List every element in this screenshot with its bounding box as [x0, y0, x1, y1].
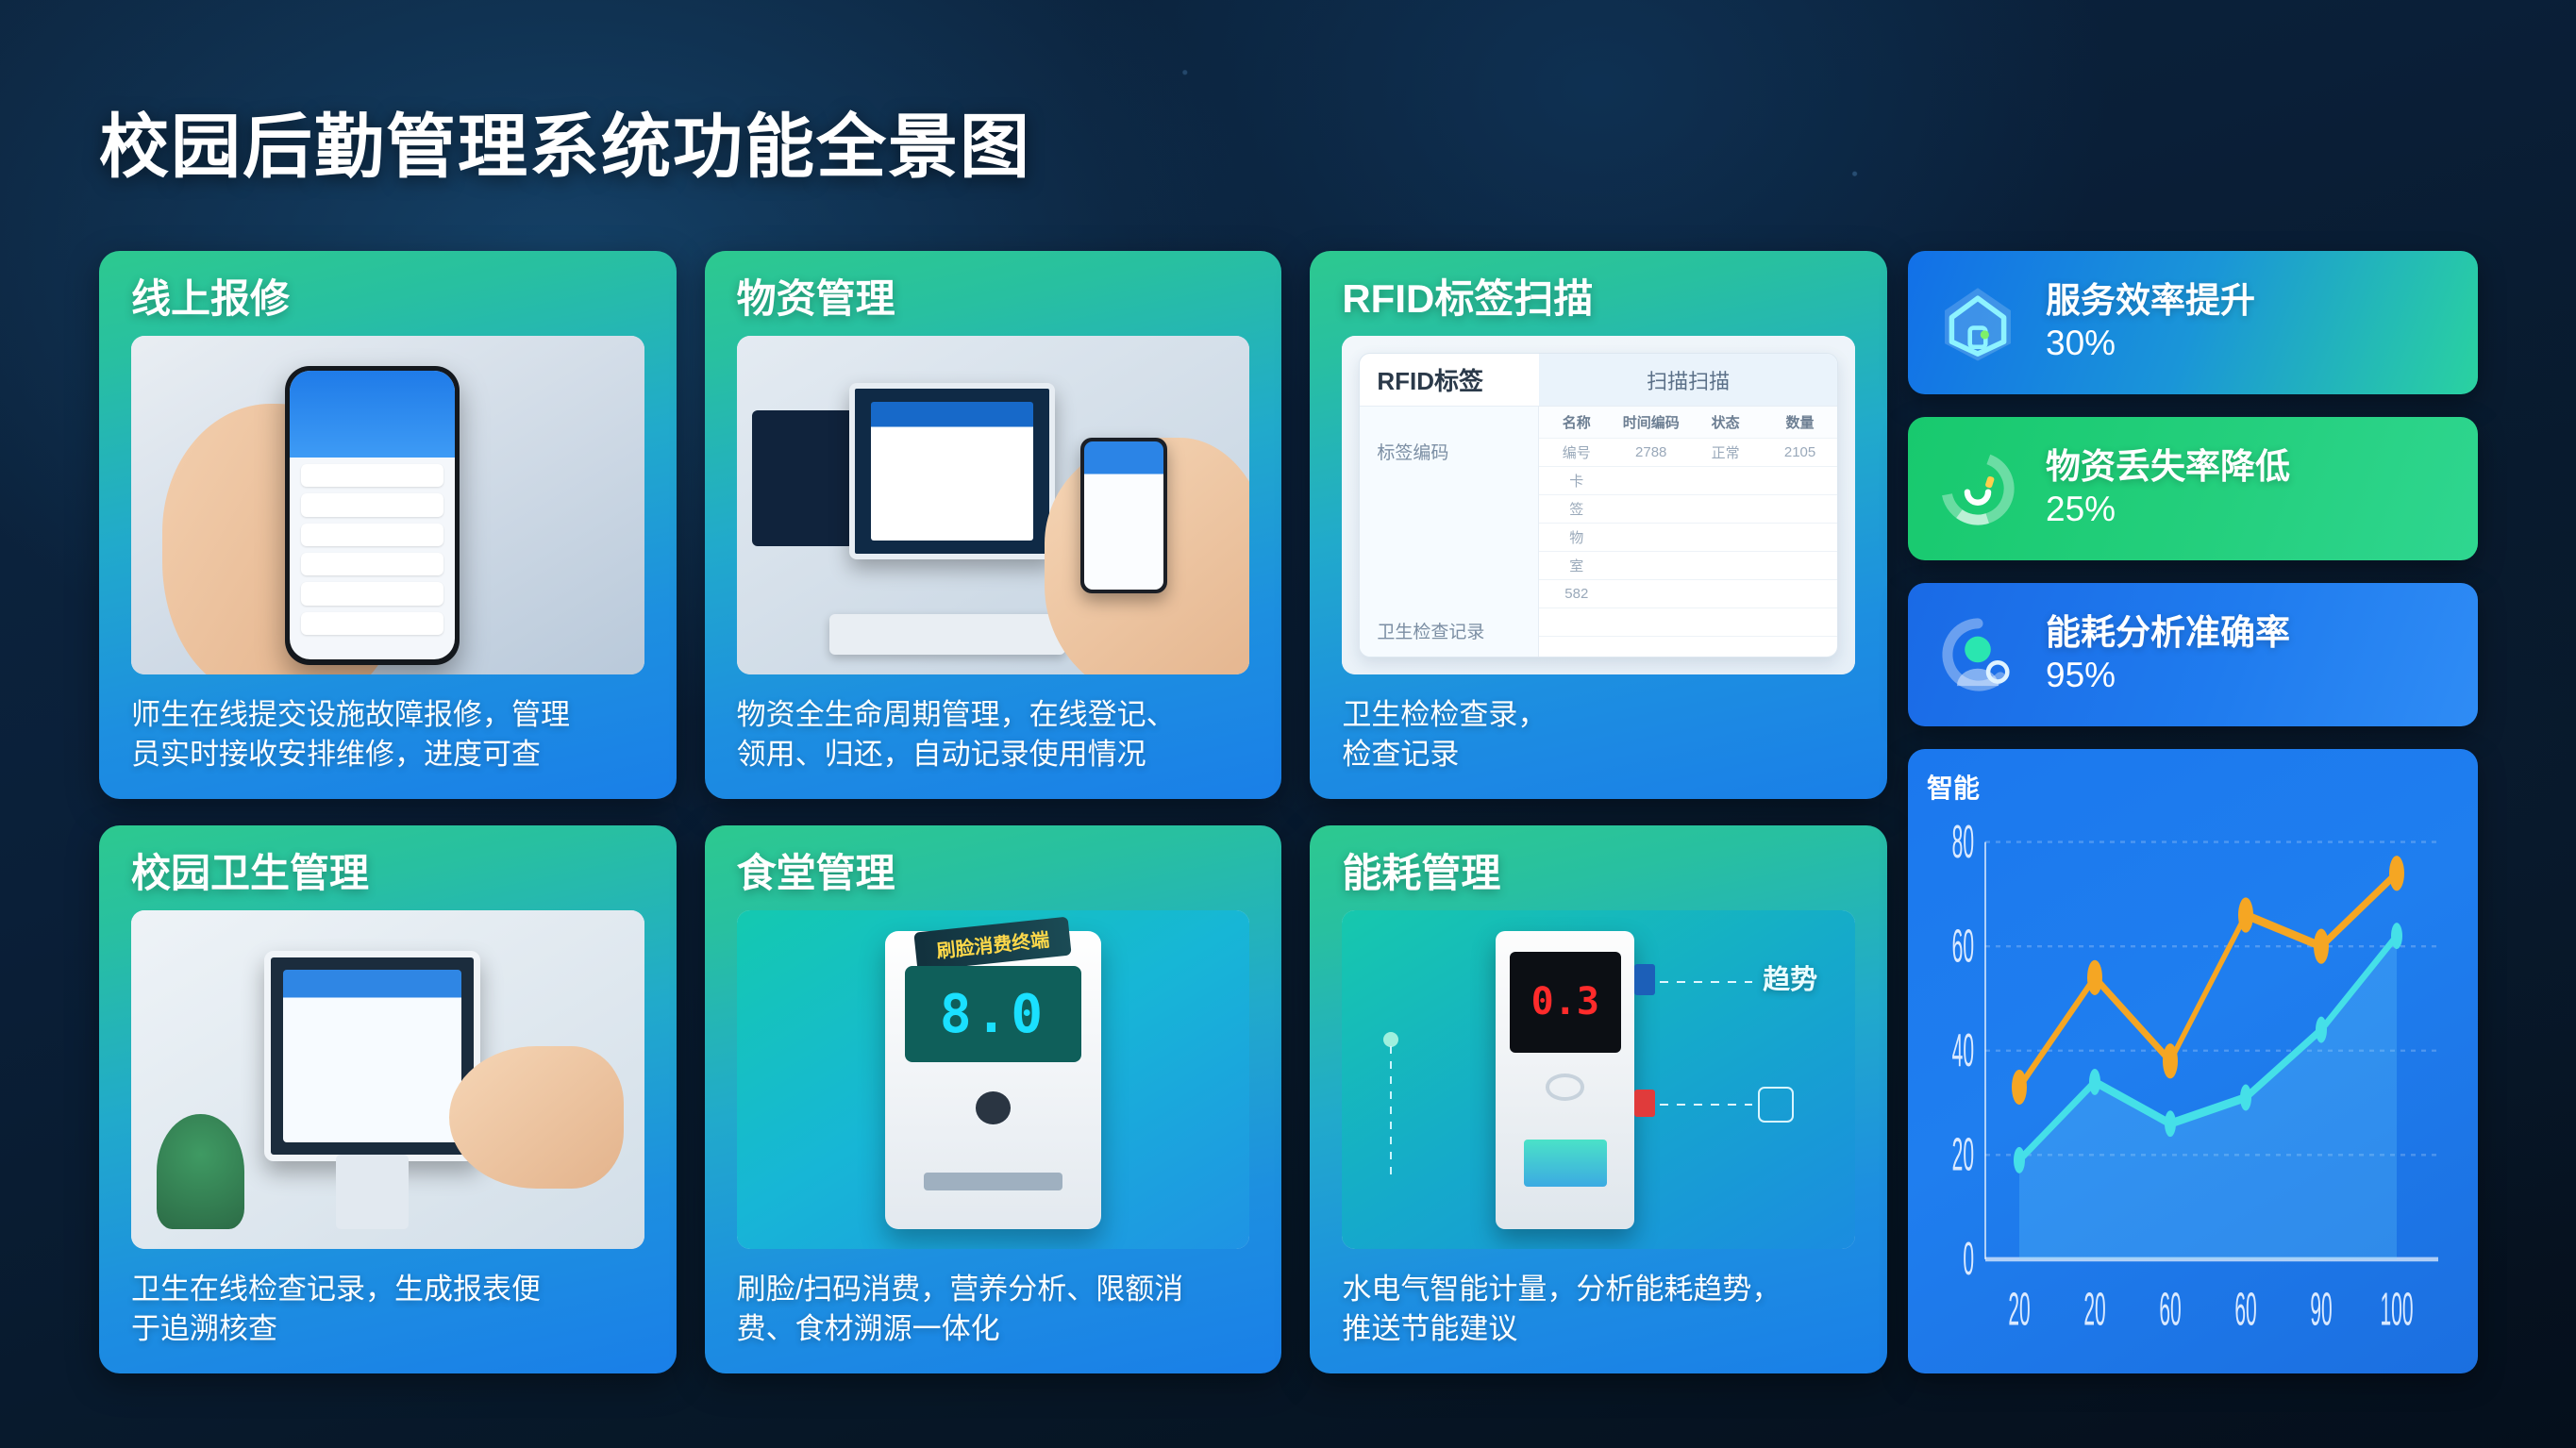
smart-meter-illustration: 0.3: [1496, 931, 1634, 1229]
stat-value: 30%: [2046, 323, 2255, 364]
chart-svg: 0204060802020606090100: [1927, 811, 2455, 1360]
callout-line-bottom: [1660, 1104, 1752, 1106]
rfid-footer-label: 卫生检查记录: [1377, 618, 1538, 643]
report-icon: [1758, 1087, 1794, 1123]
svg-text:100: 100: [2380, 1284, 2413, 1336]
feature-card-description: 物资全生命周期管理，在线登记、 领用、归还，自动记录使用情况: [737, 695, 1250, 774]
hand-illustration: [449, 1046, 624, 1189]
cell: 签: [1539, 499, 1614, 519]
feature-card-title: 物资管理: [737, 279, 1250, 319]
cell: 2788: [1614, 444, 1688, 460]
feature-card-title: RFID标签扫描: [1342, 279, 1855, 319]
table-header-row: 名称 时间编码 状态 数量: [1539, 407, 1837, 439]
connector-line: [1390, 1046, 1392, 1182]
feature-card-energy-management[interactable]: 能耗管理 0.3 趋势 水电气智能计量，分析能耗趋势， 推送节能建议: [1310, 825, 1887, 1373]
table-row: 物: [1539, 524, 1837, 552]
feature-card-media-phone-repair: [131, 336, 644, 674]
table-row: 签: [1539, 495, 1837, 524]
meter-display: 0.3: [1510, 952, 1620, 1054]
svg-text:40: 40: [1952, 1024, 1974, 1076]
cell: 卡: [1539, 471, 1614, 491]
page-title: 校园后勤管理系统功能全景图: [99, 91, 1031, 191]
feature-card-media-rfid-ui: RFID标签 扫描扫描 标签编码 卫生检查记录 名称 时间编码 状态: [1342, 336, 1855, 674]
meter-knob: [1546, 1074, 1584, 1100]
monitor-illustration: [849, 383, 1054, 559]
svg-text:60: 60: [1952, 920, 1974, 972]
svg-text:60: 60: [2159, 1284, 2181, 1336]
svg-text:0: 0: [1963, 1233, 1974, 1285]
tablet-illustration: [264, 951, 479, 1161]
trend-annotation: 趋势: [1763, 957, 1817, 997]
feature-card-canteen-management[interactable]: 食堂管理 刷脸消费终端 8.0 刷脸/扫码消费，营养分析、限额消 费、食材溯源一…: [705, 825, 1282, 1373]
feature-card-media-canteen-terminal: 刷脸消费终端 8.0: [737, 910, 1250, 1249]
feature-card-description: 卫生检检查录， 检查记录: [1342, 695, 1855, 774]
rfid-table: 名称 时间编码 状态 数量 编号 2788 正常 2105: [1539, 407, 1837, 657]
smartphone-illustration: [285, 366, 460, 664]
feature-card-rfid-scan[interactable]: RFID标签扫描 RFID标签 扫描扫描 标签编码 卫生检查记录: [1310, 251, 1887, 799]
rfid-mock-window: RFID标签 扫描扫描 标签编码 卫生检查记录 名称 时间编码 状态: [1359, 353, 1838, 657]
camera-lens-icon: [976, 1091, 1011, 1124]
feature-card-title: 校园卫生管理: [131, 854, 644, 893]
feature-card-grid: 线上报修 师生在线提交设施故障报修，管理 员实时接收安排维修，进度可查 物资管理: [99, 251, 1887, 1373]
svg-text:80: 80: [1952, 816, 1974, 868]
feature-card-asset-management[interactable]: 物资管理 物资全生命周期管理，在线登记、 领用、归还，自动记录使用情况: [705, 251, 1282, 799]
table-row: [1539, 608, 1837, 637]
trend-chart-card[interactable]: 智能 0204060802020606090100: [1908, 749, 2478, 1373]
stats-rail: 服务效率提升 30% 物资丢失率降低 25%: [1908, 251, 2478, 1373]
feature-card-media-desktop-asset: [737, 336, 1250, 674]
table-row: 编号 2788 正常 2105: [1539, 439, 1837, 467]
stat-card-asset-loss[interactable]: 物资丢失率降低 25%: [1908, 417, 2478, 560]
svg-text:20: 20: [2083, 1284, 2105, 1336]
stat-card-energy-accuracy[interactable]: 能耗分析准确率 95%: [1908, 583, 2478, 726]
svg-text:20: 20: [1952, 1128, 1974, 1180]
stand-illustration: [336, 1155, 408, 1229]
svg-text:60: 60: [2234, 1284, 2256, 1336]
svg-text:90: 90: [2310, 1284, 2332, 1336]
stat-label: 能耗分析准确率: [2046, 613, 2290, 654]
card-slot: [924, 1173, 1062, 1190]
table-row: 卡: [1539, 467, 1837, 495]
donut-smile-icon: [1934, 445, 2021, 532]
smartphone-illustration: [1080, 438, 1167, 593]
cell: 室: [1539, 556, 1614, 575]
rfid-brand-label: RFID标签: [1360, 362, 1539, 397]
feature-card-title: 能耗管理: [1342, 854, 1855, 893]
secondary-monitor-illustration: [752, 410, 865, 546]
feature-card-description: 水电气智能计量，分析能耗趋势， 推送节能建议: [1342, 1270, 1855, 1349]
stat-label: 服务效率提升: [2046, 281, 2255, 322]
feature-card-campus-sanitation[interactable]: 校园卫生管理 卫生在线检查记录，生成报表便 于追溯核查: [99, 825, 677, 1373]
cell: 物: [1539, 527, 1614, 547]
chart-plot-area: 0204060802020606090100: [1927, 811, 2455, 1360]
terminal-display: 8.0: [905, 966, 1081, 1061]
table-row: 582: [1539, 580, 1837, 608]
table-row: 室: [1539, 552, 1837, 580]
feature-card-description: 刷脸/扫码消费，营养分析、限额消 费、食材溯源一体化: [737, 1270, 1250, 1349]
person-scan-icon: [1934, 611, 2021, 698]
column-header: 时间编码: [1614, 412, 1688, 432]
cell: 正常: [1688, 442, 1763, 462]
column-header: 数量: [1763, 412, 1837, 432]
column-header: 状态: [1688, 412, 1763, 432]
stat-value: 95%: [2046, 655, 2290, 696]
meter-button-red: [1634, 1090, 1655, 1117]
feature-card-description: 师生在线提交设施故障报修，管理 员实时接收安排维修，进度可查: [131, 695, 644, 774]
feature-card-media-cleaning-kiosk: [131, 910, 644, 1249]
plant-illustration: [157, 1114, 243, 1229]
feature-card-online-repair[interactable]: 线上报修 师生在线提交设施故障报修，管理 员实时接收安排维修，进度可查: [99, 251, 677, 799]
feature-card-media-energy-meter: 0.3 趋势: [1342, 910, 1855, 1249]
chart-title: 智能: [1927, 768, 2455, 806]
face-payment-terminal-illustration: 刷脸消费终端 8.0: [885, 931, 1100, 1229]
terminal-label: 刷脸消费终端: [914, 917, 1073, 972]
home-smart-icon: [1934, 279, 2021, 366]
cell: 2105: [1763, 444, 1837, 460]
rfid-side-label: 标签编码: [1377, 439, 1538, 464]
meter-strip: [1524, 1140, 1607, 1188]
feature-card-title: 线上报修: [131, 279, 644, 319]
feature-card-title: 食堂管理: [737, 854, 1250, 893]
callout-line-top: [1660, 981, 1752, 983]
stat-value: 25%: [2046, 489, 2290, 530]
stat-card-service-efficiency[interactable]: 服务效率提升 30%: [1908, 251, 2478, 394]
column-header: 名称: [1539, 412, 1614, 432]
keyboard-illustration: [829, 614, 1065, 655]
stat-label: 物资丢失率降低: [2046, 447, 2290, 488]
svg-text:20: 20: [2008, 1284, 2030, 1336]
rfid-scan-tab[interactable]: 扫描扫描: [1539, 354, 1837, 406]
feature-card-description: 卫生在线检查记录，生成报表便 于追溯核查: [131, 1270, 644, 1349]
cell: 582: [1539, 586, 1614, 602]
cell: 编号: [1539, 442, 1614, 462]
meter-button-blue: [1634, 964, 1655, 994]
